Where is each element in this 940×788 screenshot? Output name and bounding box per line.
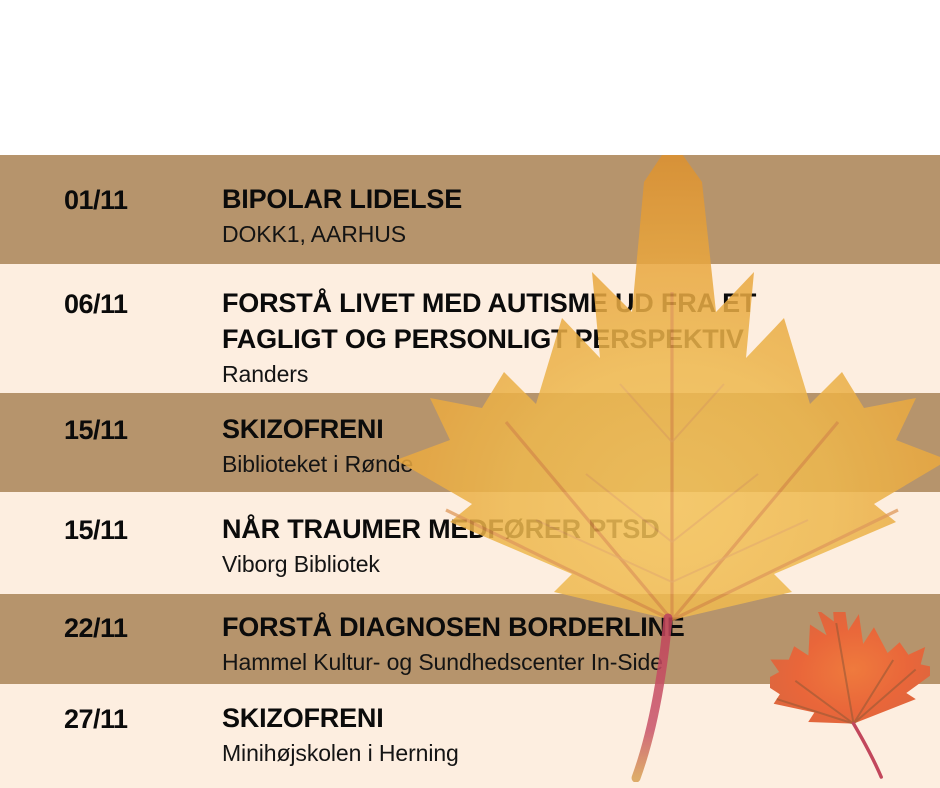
poster-canvas: 01/11 BIPOLAR LIDELSE DOKK1, AARHUS 06/1… [0, 0, 940, 788]
event-text-block: SKIZOFRENI Biblioteket i Rønde [222, 411, 930, 480]
event-row: 15/11 NÅR TRAUMER MEDFØRER PTSD Viborg B… [0, 492, 940, 594]
event-venue: Hammel Kultur- og Sundhedscenter In-Side [222, 647, 930, 678]
event-text-block: SKIZOFRENI Minihøjskolen i Herning [222, 700, 930, 769]
event-text-block: NÅR TRAUMER MEDFØRER PTSD Viborg Bibliot… [222, 511, 930, 580]
event-text-block: BIPOLAR LIDELSE DOKK1, AARHUS [222, 181, 930, 250]
event-venue: Minihøjskolen i Herning [222, 738, 930, 769]
event-title: SKIZOFRENI [222, 700, 930, 736]
event-title: FORSTÅ DIAGNOSEN BORDERLINE [222, 609, 930, 645]
title-band [0, 0, 940, 155]
event-venue: Randers [222, 359, 930, 390]
event-date: 06/11 [64, 289, 128, 320]
event-date: 27/11 [64, 704, 128, 735]
event-date: 22/11 [64, 613, 128, 644]
event-row: 01/11 BIPOLAR LIDELSE DOKK1, AARHUS [0, 155, 940, 264]
event-date: 01/11 [64, 185, 128, 216]
event-date: 15/11 [64, 515, 128, 546]
event-row: 22/11 FORSTÅ DIAGNOSEN BORDERLINE Hammel… [0, 594, 940, 684]
event-title: BIPOLAR LIDELSE [222, 181, 930, 217]
event-row: 15/11 SKIZOFRENI Biblioteket i Rønde [0, 393, 940, 492]
event-title: SKIZOFRENI [222, 411, 930, 447]
event-text-block: FORSTÅ DIAGNOSEN BORDERLINE Hammel Kultu… [222, 609, 930, 678]
event-title: NÅR TRAUMER MEDFØRER PTSD [222, 511, 930, 547]
event-row: 06/11 FORSTÅ LIVET MED AUTISME UD FRA ET… [0, 264, 940, 393]
event-venue: Viborg Bibliotek [222, 549, 930, 580]
event-venue: Biblioteket i Rønde [222, 449, 930, 480]
event-date: 15/11 [64, 415, 128, 446]
event-row: 27/11 SKIZOFRENI Minihøjskolen i Herning [0, 684, 940, 788]
event-title: FORSTÅ LIVET MED AUTISME UD FRA ET FAGLI… [222, 285, 930, 357]
event-text-block: FORSTÅ LIVET MED AUTISME UD FRA ET FAGLI… [222, 285, 930, 390]
event-venue: DOKK1, AARHUS [222, 219, 930, 250]
